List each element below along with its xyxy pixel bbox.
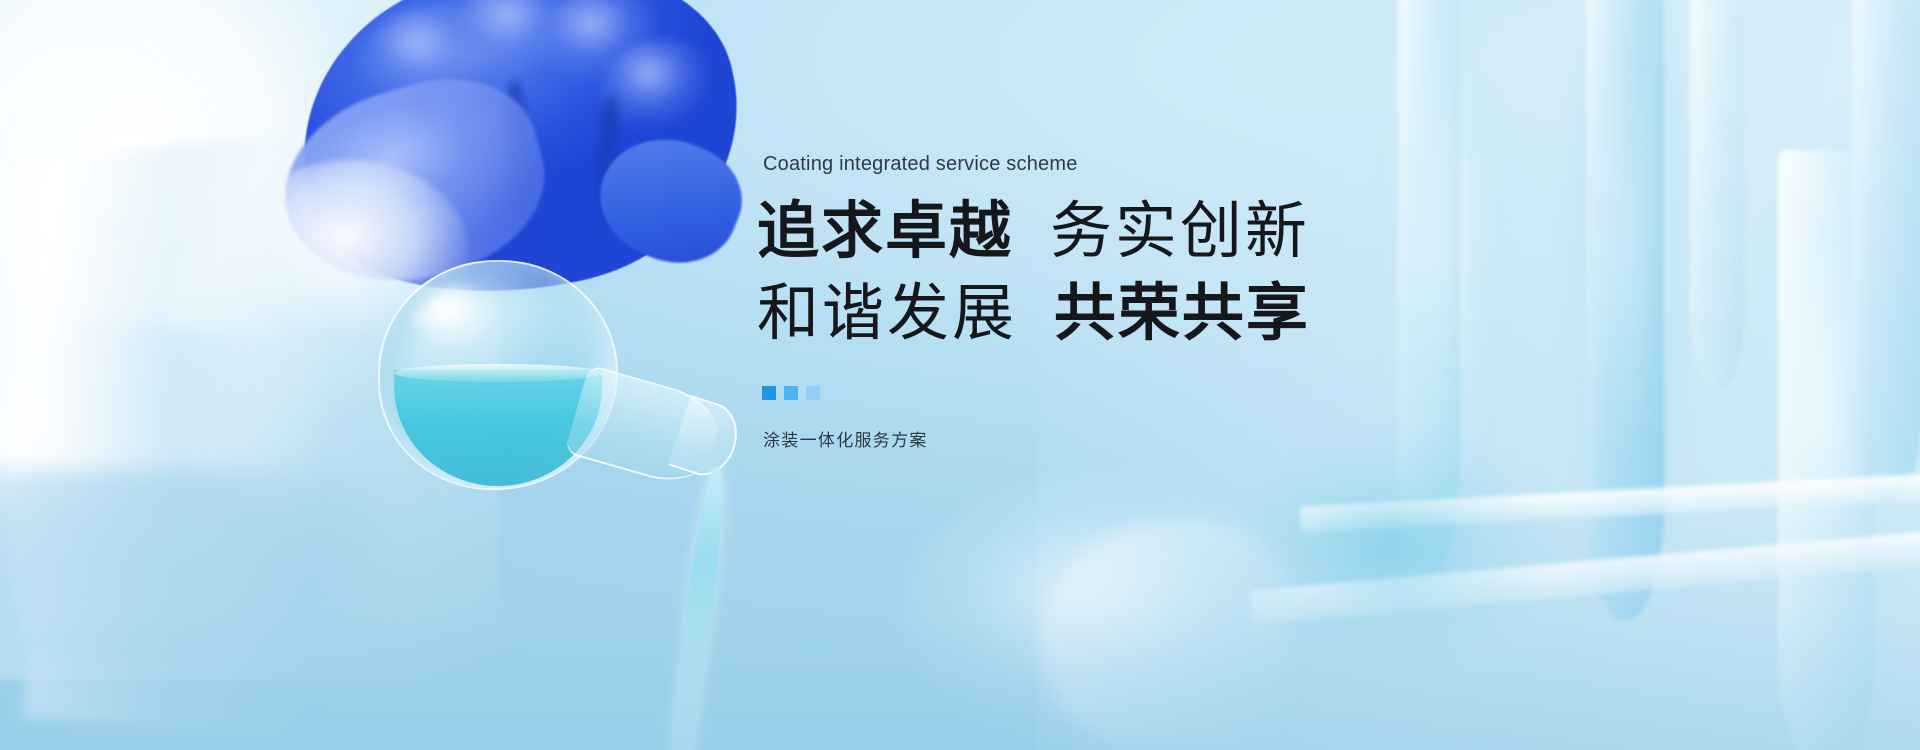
slide-dot-3[interactable] (806, 386, 820, 400)
test-tube-5 (1852, 0, 1920, 500)
hero-banner: Coating integrated service scheme 追求卓越 务… (0, 0, 1920, 750)
slide-indicator[interactable] (762, 386, 820, 400)
banner-headline-line-1: 追求卓越 务实创新 (757, 199, 1310, 264)
headline-line2-light: 和谐发展 (757, 279, 1017, 348)
headline-line1-light: 务实创新 (1050, 197, 1310, 266)
headline-line2-strong: 共荣共享 (1054, 279, 1310, 348)
banner-caption: 涂装一体化服务方案 (763, 426, 928, 451)
banner-headline-line-2: 和谐发展 共荣共享 (757, 281, 1310, 346)
slide-dot-1[interactable] (762, 386, 776, 400)
banner-copy: Coating integrated service scheme 追求卓越 务… (757, 0, 1397, 750)
glove-knuckle-4 (600, 40, 728, 152)
flask-liquid-surface (394, 364, 602, 382)
test-tube-3 (1690, 0, 1744, 390)
nitrile-glove (300, 0, 740, 290)
banner-eyebrow: Coating integrated service scheme (763, 152, 1078, 176)
slide-dot-2[interactable] (784, 386, 798, 400)
headline-line1-strong: 追求卓越 (757, 197, 1013, 266)
